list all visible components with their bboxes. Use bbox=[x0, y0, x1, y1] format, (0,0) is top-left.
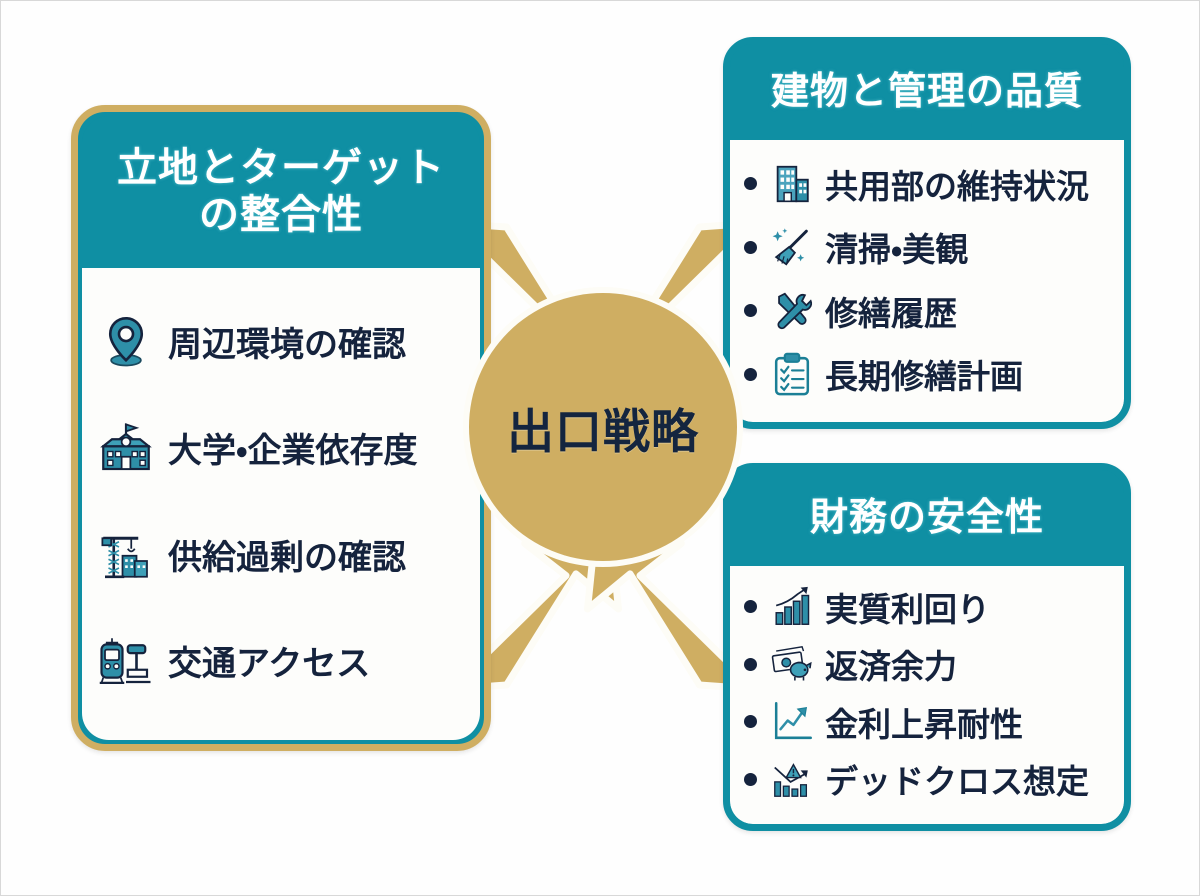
card-body-financial-safety: 実質利回り bbox=[730, 566, 1124, 824]
infographic-canvas: 出口戦略 立地とターゲット の整合性 bbox=[0, 0, 1200, 896]
train-station-icon bbox=[98, 633, 154, 689]
list-item-label: 返済余力 bbox=[825, 640, 957, 688]
bullet-icon bbox=[744, 600, 757, 613]
dead-cross-icon bbox=[769, 756, 815, 802]
card-title-financial-safety: 財務の安全性 bbox=[730, 470, 1124, 566]
list-item[interactable]: 修繕履歴 bbox=[744, 287, 1116, 335]
cash-piggybank-icon bbox=[769, 641, 815, 687]
bullet-icon bbox=[744, 715, 757, 728]
crane-icon bbox=[98, 526, 154, 582]
list-item[interactable]: 大学・企業依存度 bbox=[98, 420, 470, 476]
card-financial-safety[interactable]: 財務の安全性 実質利回り bbox=[723, 463, 1131, 831]
line-chart-up-icon bbox=[769, 699, 815, 745]
card-location-target[interactable]: 立地とターゲット の整合性 周辺環境の確認 bbox=[71, 105, 491, 751]
school-icon bbox=[98, 420, 154, 476]
list-item-label: 清掃・美観 bbox=[825, 223, 968, 271]
list-item[interactable]: デッドクロス想定 bbox=[744, 755, 1116, 803]
list-item-label: 実質利回り bbox=[825, 583, 990, 631]
hub-label: 出口戦略 bbox=[469, 293, 737, 561]
card-title-line2: の整合性 bbox=[199, 192, 363, 238]
list-item[interactable]: 清掃・美観 bbox=[744, 223, 1116, 271]
broom-icon bbox=[769, 224, 815, 270]
bullet-icon bbox=[744, 773, 757, 786]
bullet-icon bbox=[744, 368, 757, 381]
list-item[interactable]: 共用部の維持状況 bbox=[744, 160, 1116, 208]
list-item[interactable]: 返済余力 bbox=[744, 640, 1116, 688]
list-item-label: 長期修繕計画 bbox=[825, 350, 1023, 398]
list-item-label: 修繕履歴 bbox=[825, 287, 957, 335]
card-title-building-management: 建物と管理の品質 bbox=[730, 44, 1124, 140]
list-item-label: 供給過剰の確認 bbox=[168, 530, 406, 579]
list-item[interactable]: 供給過剰の確認 bbox=[98, 526, 470, 582]
card-body-building-management: 共用部の維持状況 清掃・美観 bbox=[730, 140, 1124, 422]
card-title-line1: 立地とターゲット bbox=[117, 145, 445, 191]
bar-chart-up-icon bbox=[769, 584, 815, 630]
map-pin-icon bbox=[98, 313, 154, 369]
card-title-location-target: 立地とターゲット の整合性 bbox=[82, 116, 480, 268]
bullet-icon bbox=[744, 658, 757, 671]
list-item[interactable]: 実質利回り bbox=[744, 583, 1116, 631]
list-item-label: 共用部の維持状況 bbox=[825, 160, 1089, 208]
list-item-label: デッドクロス想定 bbox=[825, 755, 1089, 803]
tools-icon bbox=[769, 288, 815, 334]
list-item[interactable]: 金利上昇耐性 bbox=[744, 698, 1116, 746]
list-item-label: 大学・企業依存度 bbox=[168, 423, 418, 472]
bullet-icon bbox=[744, 241, 757, 254]
clipboard-icon bbox=[769, 351, 815, 397]
card-body-location-target: 周辺環境の確認 bbox=[82, 268, 480, 740]
list-item[interactable]: 交通アクセス bbox=[98, 633, 470, 689]
list-item[interactable]: 周辺環境の確認 bbox=[98, 313, 470, 369]
list-item[interactable]: 長期修繕計画 bbox=[744, 350, 1116, 398]
bullet-icon bbox=[744, 177, 757, 190]
list-item-label: 交通アクセス bbox=[168, 636, 370, 685]
card-building-management[interactable]: 建物と管理の品質 bbox=[723, 37, 1131, 429]
list-item-label: 周辺環境の確認 bbox=[168, 317, 406, 366]
apartment-icon bbox=[769, 161, 815, 207]
bullet-icon bbox=[744, 304, 757, 317]
list-item-label: 金利上昇耐性 bbox=[825, 698, 1023, 746]
